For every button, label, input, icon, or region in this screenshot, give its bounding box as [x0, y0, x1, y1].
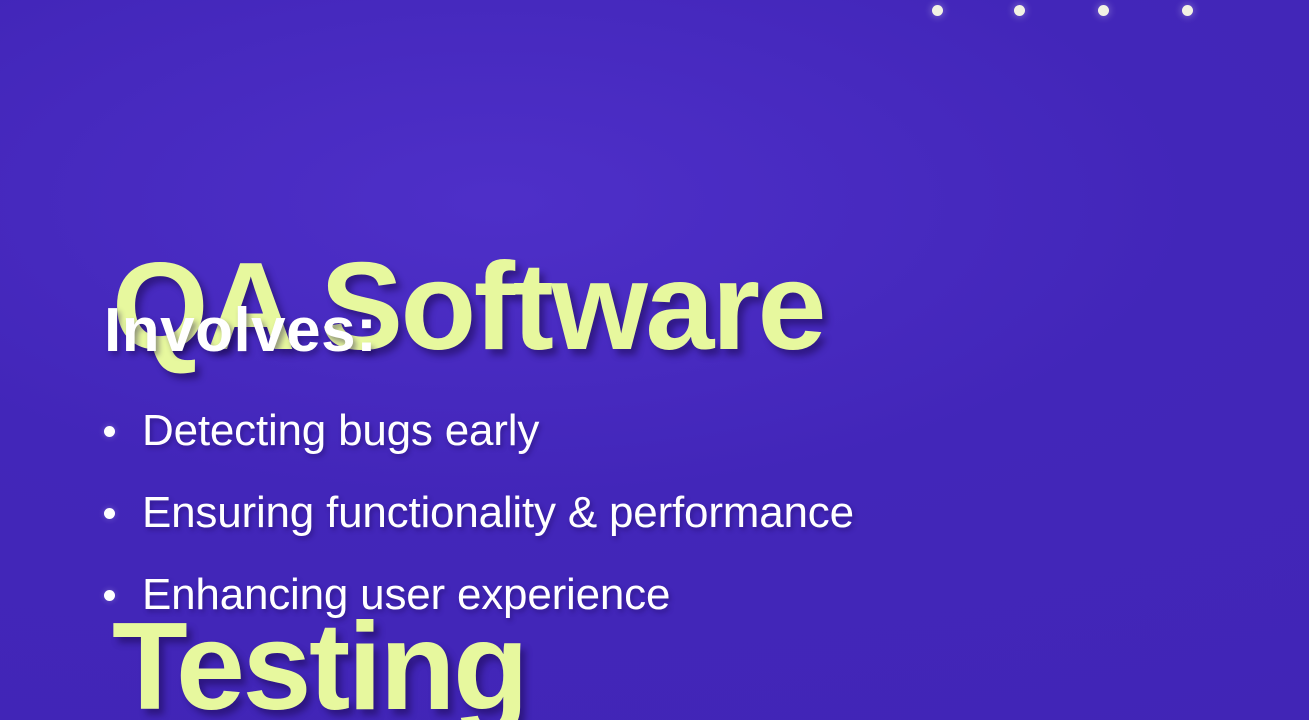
list-item: Enhancing user experience — [104, 554, 1204, 636]
list-item-label: Ensuring functionality & performance — [142, 491, 854, 535]
list-item: Ensuring functionality & performance — [104, 472, 1204, 554]
slide-canvas: QA Software Testing Involves: Detecting … — [0, 0, 1309, 720]
decorative-dot-4 — [1182, 5, 1193, 16]
list-item-label: Detecting bugs early — [142, 409, 539, 453]
slide-subheading: Involves: — [104, 300, 377, 362]
decorative-dot-2 — [1014, 5, 1025, 16]
decorative-dot-3 — [1098, 5, 1109, 16]
involves-bullet-list: Detecting bugs early Ensuring functional… — [104, 390, 1204, 636]
bullet-dot-icon — [104, 508, 115, 519]
list-item: Detecting bugs early — [104, 390, 1204, 472]
bullet-dot-icon — [104, 426, 115, 437]
list-item-label: Enhancing user experience — [142, 573, 670, 617]
bullet-dot-icon — [104, 590, 115, 601]
decorative-dot-1 — [932, 5, 943, 16]
